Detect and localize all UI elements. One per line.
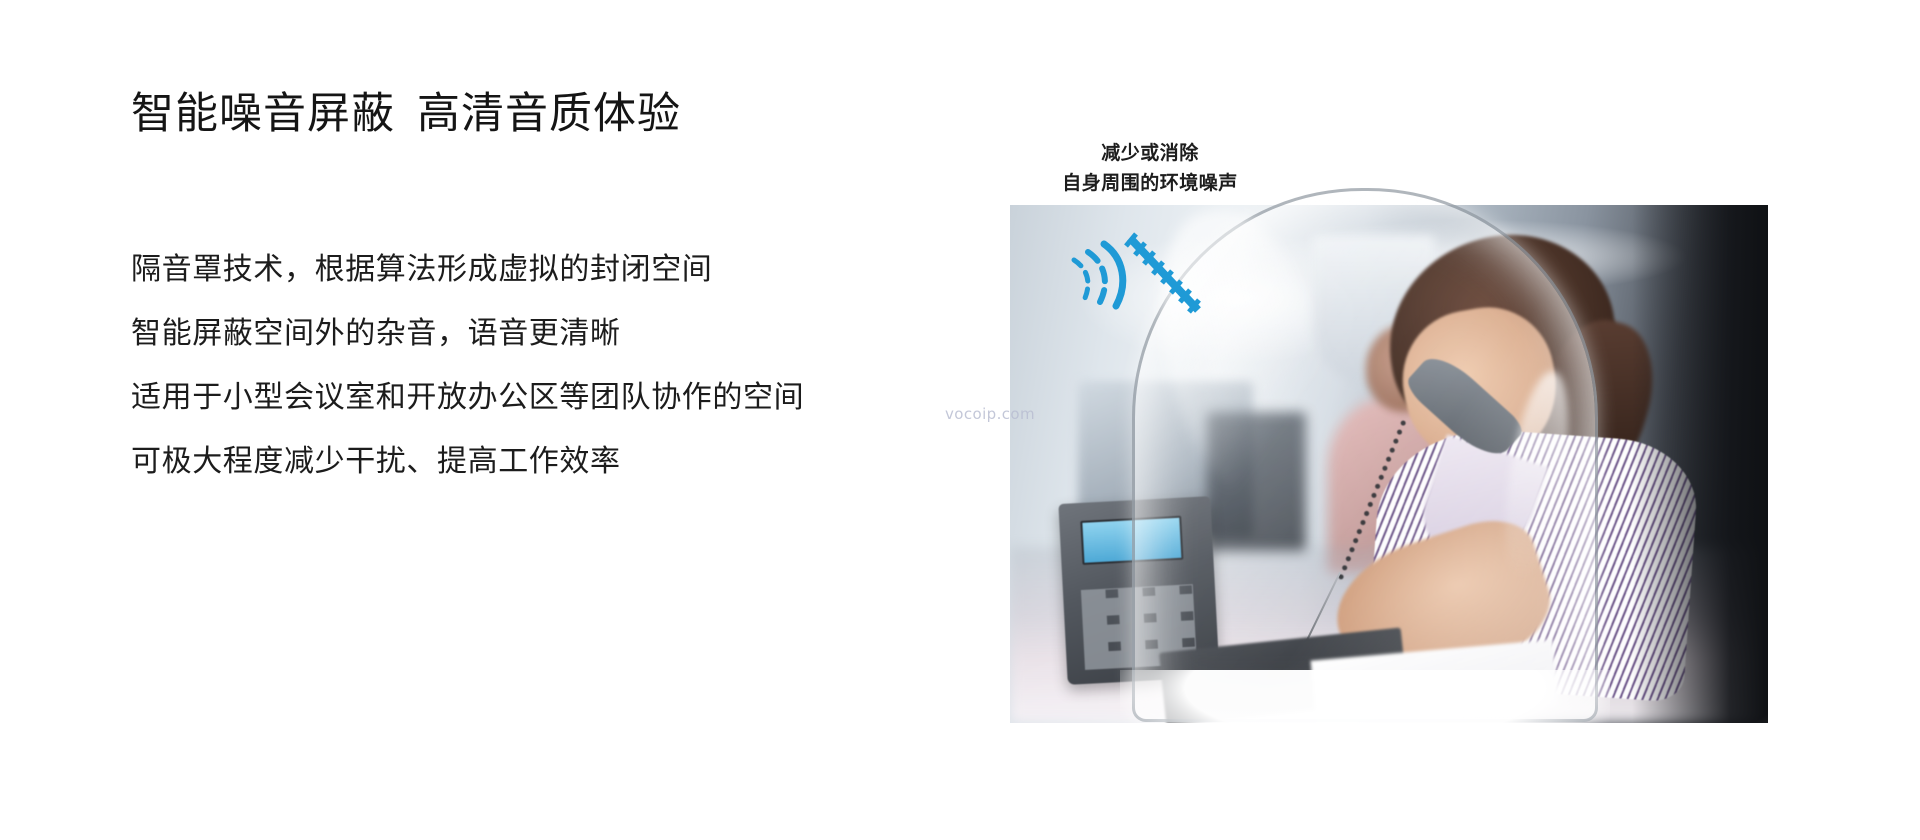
page-title-part2: 高清音质体验 <box>417 91 681 138</box>
photo-dark-edge <box>1632 205 1768 723</box>
feature-list: 隔音罩技术，根据算法形成虚拟的封闭空间 智能屏蔽空间外的杂音，语音更清晰 适用于… <box>131 238 961 494</box>
photo-column: 减少或消除 自身周围的环境噪声 <box>1000 130 1800 750</box>
photo-phone-screen <box>1081 516 1184 565</box>
list-item: 可极大程度减少干扰、提高工作效率 <box>131 430 961 494</box>
list-item: 适用于小型会议室和开放办公区等团队协作的空间 <box>131 366 961 430</box>
photo-caption-line-1: 减少或消除 <box>1035 138 1265 168</box>
photo-caption: 减少或消除 自身周围的环境噪声 <box>1035 138 1265 198</box>
list-item: 隔音罩技术，根据算法形成虚拟的封闭空间 <box>131 238 961 302</box>
photo-caption-line-2: 自身周围的环境噪声 <box>1035 168 1265 198</box>
page-title: 智能噪音屏蔽高清音质体验 <box>131 88 961 142</box>
list-item: 智能屏蔽空间外的杂音，语音更清晰 <box>131 302 961 366</box>
watermark-text: vocoip.com <box>945 405 1035 423</box>
page-title-part1: 智能噪音屏蔽 <box>131 91 395 138</box>
slide-canvas: 智能噪音屏蔽高清音质体验 隔音罩技术，根据算法形成虚拟的封闭空间 智能屏蔽空间外… <box>0 0 1920 840</box>
sound-wave-blocked-icon <box>1068 218 1218 348</box>
photo-monitor-mid <box>1207 412 1306 552</box>
text-column: 智能噪音屏蔽高清音质体验 隔音罩技术，根据算法形成虚拟的封闭空间 智能屏蔽空间外… <box>131 88 961 494</box>
